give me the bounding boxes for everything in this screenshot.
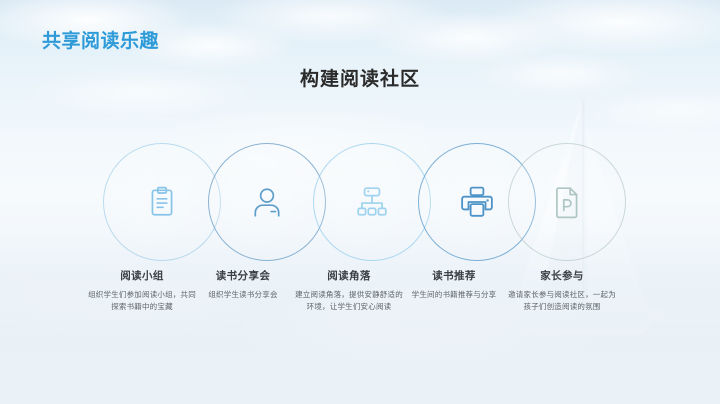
item-description: 学生间的书籍推荐与分享 xyxy=(400,289,508,301)
item-description: 建立阅读角落，提供安静舒适的环境，让学生们安心阅读 xyxy=(295,289,403,312)
slide-kicker: 共享阅读乐趣 xyxy=(42,26,159,53)
item-description: 组织学生读书分享会 xyxy=(189,289,297,301)
sitemap-icon xyxy=(355,185,389,219)
item-title: 阅读小组 xyxy=(88,268,196,283)
file-p-icon xyxy=(550,185,584,219)
clipboard-icon xyxy=(145,185,179,219)
item-description: 邀请家长参与阅读社区，一起为孩子们创造阅读的氛围 xyxy=(508,289,616,312)
item-title: 读书分享会 xyxy=(189,268,297,283)
icon-circle-1[interactable] xyxy=(103,143,221,261)
item-title: 读书推荐 xyxy=(400,268,508,283)
user-icon xyxy=(250,185,284,219)
printer-icon xyxy=(460,185,494,219)
list-item: 家长参与 邀请家长参与阅读社区，一起为孩子们创造阅读的氛围 xyxy=(508,268,616,312)
list-item: 阅读小组 组织学生们参加阅读小组，共同探索书籍中的宝藏 xyxy=(88,268,196,312)
item-title: 家长参与 xyxy=(508,268,616,283)
page-title: 构建阅读社区 xyxy=(0,64,720,91)
list-item: 读书分享会 组织学生读书分享会 xyxy=(189,268,297,301)
list-item: 阅读角落 建立阅读角落，提供安静舒适的环境，让学生们安心阅读 xyxy=(295,268,403,312)
icon-circle-row xyxy=(0,143,720,263)
list-item: 读书推荐 学生间的书籍推荐与分享 xyxy=(400,268,508,301)
icon-circle-5[interactable] xyxy=(508,143,626,261)
icon-circle-3[interactable] xyxy=(313,143,431,261)
item-title: 阅读角落 xyxy=(295,268,403,283)
item-description: 组织学生们参加阅读小组，共同探索书籍中的宝藏 xyxy=(88,289,196,312)
icon-circle-2[interactable] xyxy=(208,143,326,261)
slide-canvas: 共享阅读乐趣 构建阅读社区 xyxy=(0,0,720,404)
